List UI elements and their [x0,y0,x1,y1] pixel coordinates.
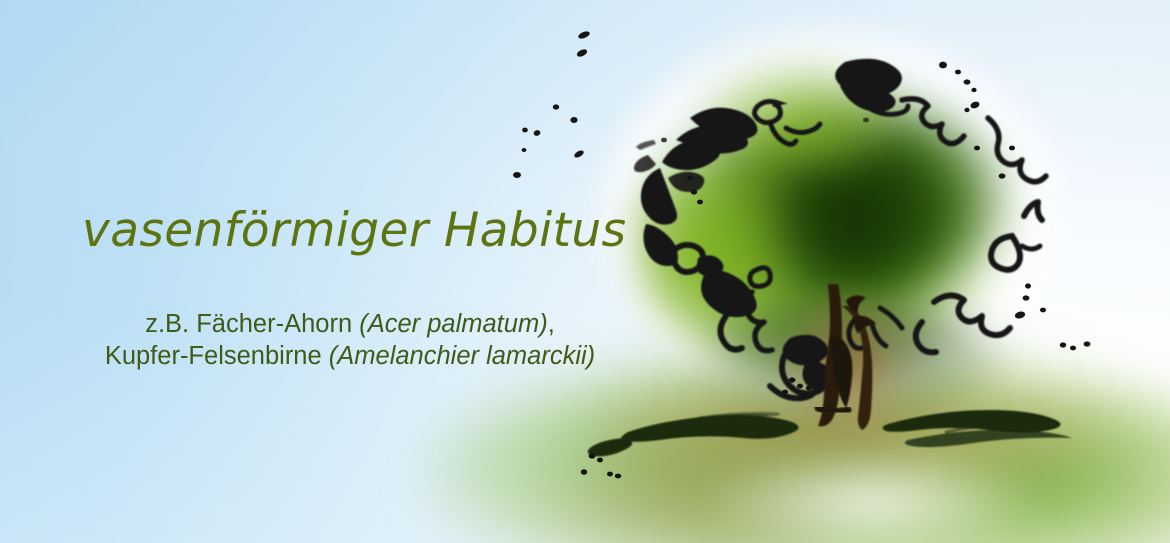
subtitle-line-1-prefix: z.B. Fächer-Ahorn [145,310,359,338]
subtitle-line-1-suffix: , [548,310,555,338]
slide-canvas: vasenförmiger Habitus z.B. Fächer-Ahorn … [0,0,1170,543]
subtitle-block: z.B. Fächer-Ahorn (Acer palmatum), Kupfe… [0,308,700,372]
subtitle-line-2-scientific-name: (Amelanchier lamarckii) [329,342,595,370]
subtitle-line-2: Kupfer-Felsenbirne (Amelanchier lamarcki… [0,340,700,372]
subtitle-line-2-prefix: Kupfer-Felsenbirne [105,342,329,370]
subtitle-line-1: z.B. Fächer-Ahorn (Acer palmatum), [0,308,700,340]
ink-brush-illustration [0,0,1170,543]
page-title: vasenförmiger Habitus [82,205,626,257]
tree-trunk [818,284,876,430]
subtitle-line-1-scientific-name: (Acer palmatum) [359,310,547,338]
